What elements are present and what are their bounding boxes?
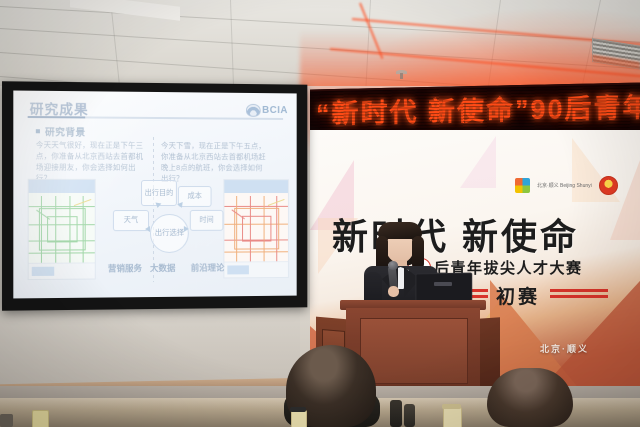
backdrop-round-label: 初赛 — [496, 282, 540, 309]
map-header — [224, 180, 288, 193]
diagram-node-purpose: 出行目的 — [141, 180, 177, 206]
map-chip — [32, 267, 54, 276]
slide-bullet-row: 研究背景 — [36, 124, 86, 138]
presentation-photo-scene: “新时代 新使命”90后青年 北京·顺义 Beijing Shunyi 新时代 … — [0, 0, 640, 427]
projection-screen: 研究成果 BCIA 研究背景 今天天气很好，现在正是下午三点，你准备从北京西站去… — [2, 81, 307, 310]
water-bottle — [404, 404, 415, 427]
bcia-logo: BCIA — [246, 104, 288, 117]
slide-footer-label-1: 营销服务 — [108, 262, 142, 274]
presentation-slide: 研究成果 BCIA 研究背景 今天天气很好，现在正是下午三点，你准备从北京西站去… — [13, 91, 296, 299]
diagram-arrow — [177, 202, 184, 209]
diagram-node-weather: 天气 — [113, 210, 149, 231]
sprinkler-icon — [396, 70, 407, 79]
slide-divider — [153, 137, 154, 282]
map-left-clear-traffic — [28, 179, 96, 280]
youth-league-emblem-icon — [599, 176, 618, 195]
slide-bullet-label: 研究背景 — [45, 124, 86, 138]
backdrop-logo-text: 北京·顺义 Beijing Shunyi — [537, 183, 592, 189]
diagram-arrow — [184, 226, 189, 232]
laptop-logo — [434, 282, 452, 286]
slide-paragraph-left: 今天天气很好，现在正是下午三点，你准备从北京西站去首都机场迎接朋友，你会选择如何… — [36, 139, 145, 184]
diagram-center-node: 出行选择 — [150, 214, 189, 253]
backdrop-place-label: 北京·顺义 — [540, 342, 589, 355]
slide-paragraph-right: 今天下雪，现在正是下午五点，你准备从北京西站去首都机场赶晚上8点的航班，你会选择… — [161, 140, 268, 184]
map-chip — [227, 265, 249, 274]
backdrop-logos: 北京·顺义 Beijing Shunyi — [515, 176, 618, 195]
object-far-left — [0, 414, 13, 427]
bcia-wordmark: BCIA — [262, 105, 288, 116]
speaker-hair-right — [412, 236, 424, 270]
paper-cup — [32, 410, 49, 427]
podium-front-inset — [360, 318, 468, 384]
diagram-arrow — [145, 226, 150, 232]
slide-footer-label-3: 前沿理论 — [191, 262, 225, 274]
paper-cup-lid — [442, 404, 461, 409]
diagram-arrow — [155, 203, 162, 209]
slide-footer-label-2: 大数据 — [150, 262, 175, 274]
map-right-congested-traffic — [223, 179, 289, 278]
diagram-node-time: 时间 — [190, 210, 224, 231]
decor-rule — [550, 289, 608, 292]
speaker-hand — [388, 286, 399, 297]
wall-shadow — [0, 300, 310, 390]
microphone-head-icon — [388, 261, 398, 270]
bcia-mark-icon — [246, 104, 261, 117]
water-bottle — [390, 400, 402, 427]
audience-head-right — [487, 368, 573, 427]
paper-cup — [443, 407, 462, 427]
decor-rule — [550, 295, 608, 298]
beijing-shunyi-logo — [515, 178, 530, 193]
bullet-square-icon — [36, 129, 40, 133]
paper-cup — [291, 410, 307, 427]
paper-cup-lid — [290, 407, 306, 412]
map-header — [29, 180, 95, 193]
